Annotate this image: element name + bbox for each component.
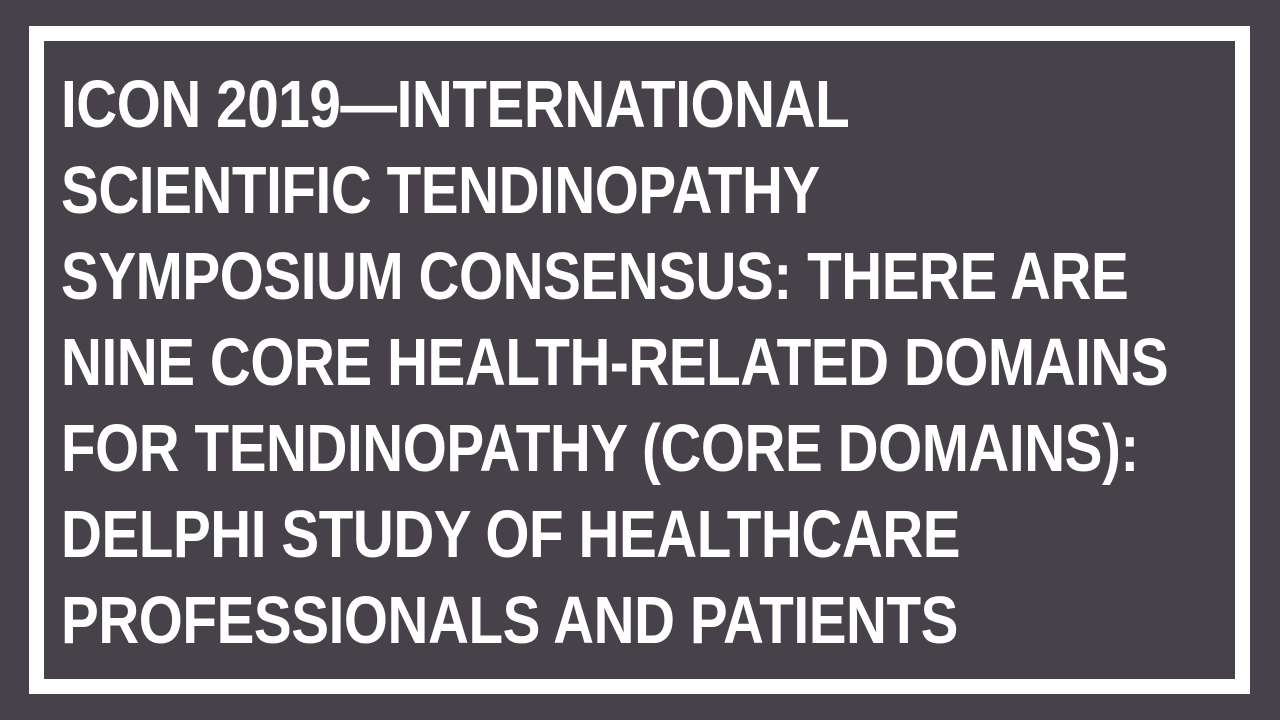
title-slide: ICON 2019—INTERNATIONAL SCIENTIFIC TENDI…: [0, 0, 1280, 720]
title-line-7: PROFESSIONALS AND PATIENTS: [61, 578, 1041, 664]
title-line-4: NINE CORE HEALTH-RELATED DOMAINS: [61, 320, 1041, 406]
title-line-2: SCIENTIFIC TENDINOPATHY: [61, 148, 1041, 234]
title-line-6: DELPHI STUDY OF HEALTHCARE: [61, 492, 1041, 578]
title-line-3: SYMPOSIUM CONSENSUS: THERE ARE: [61, 234, 1041, 320]
title-line-1: ICON 2019—INTERNATIONAL: [61, 62, 1041, 148]
title-line-5: FOR TENDINOPATHY (CORE DOMAINS):: [61, 406, 1041, 492]
slide-title: ICON 2019—INTERNATIONAL SCIENTIFIC TENDI…: [61, 62, 1221, 664]
